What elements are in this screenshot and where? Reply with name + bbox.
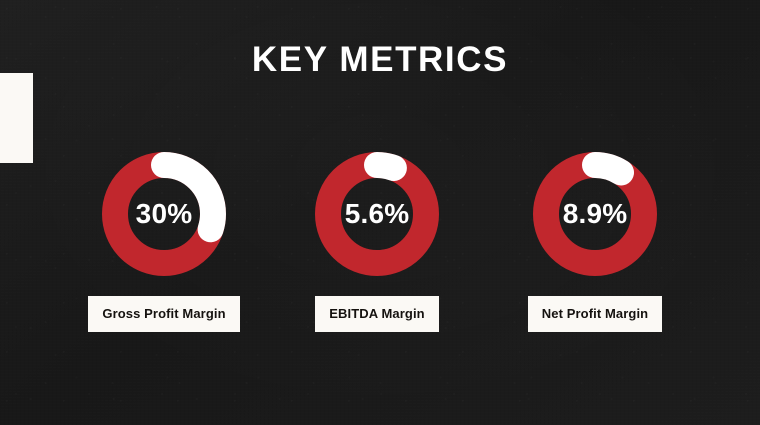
metric-label-chip: Net Profit Margin xyxy=(528,296,662,332)
donut-chart-ebitda-margin: 5.6% xyxy=(315,152,439,276)
metric-label-chip: EBITDA Margin xyxy=(315,296,438,332)
metric-card-gross-profit-margin: 30% Gross Profit Margin xyxy=(79,152,249,332)
slide-canvas: KEY METRICS 30% Gross Profit Margin 5.6%… xyxy=(0,0,760,425)
donut-chart-gross-profit-margin: 30% xyxy=(102,152,226,276)
left-edge-accent-card xyxy=(0,73,33,163)
page-title: KEY METRICS xyxy=(0,40,760,80)
metric-card-net-profit-margin: 8.9% Net Profit Margin xyxy=(510,152,680,332)
metric-card-ebitda-margin: 5.6% EBITDA Margin xyxy=(292,152,462,332)
metric-label-chip: Gross Profit Margin xyxy=(88,296,239,332)
donut-value-label: 5.6% xyxy=(315,199,439,229)
donut-value-label: 8.9% xyxy=(533,199,657,229)
donut-value-label: 30% xyxy=(102,199,226,229)
metrics-row: 30% Gross Profit Margin 5.6% EBITDA Marg… xyxy=(0,152,760,342)
donut-chart-net-profit-margin: 8.9% xyxy=(533,152,657,276)
